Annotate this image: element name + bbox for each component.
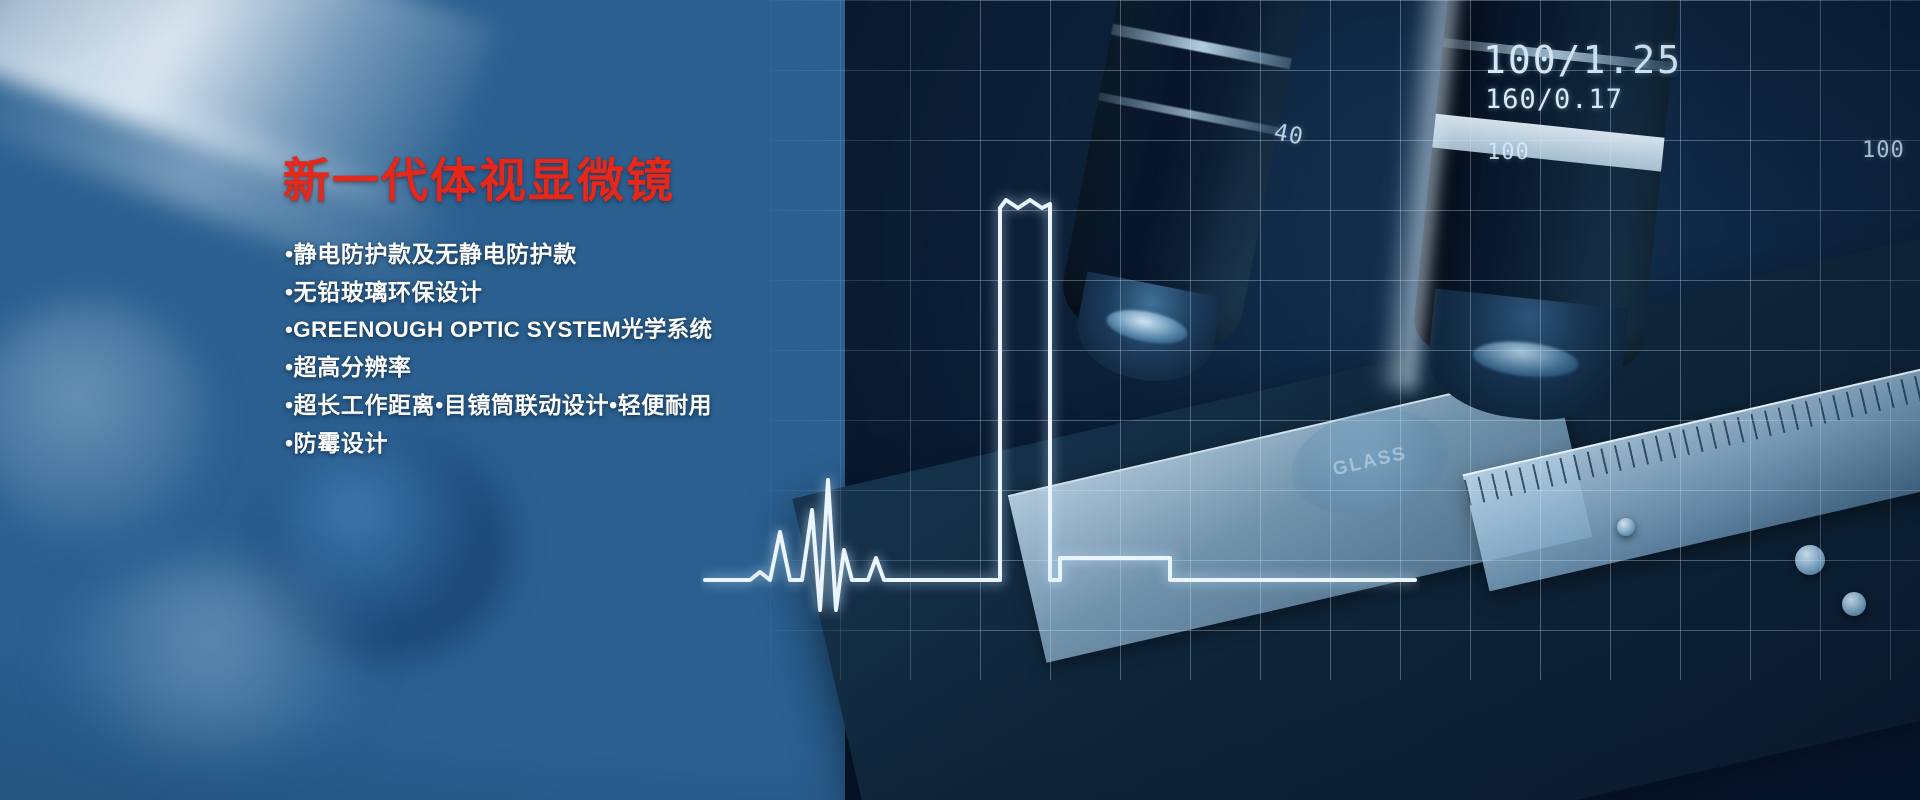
list-item: •超高分辨率 [285,356,983,379]
banner-hero: GLASS 40 100/1.25 160/0.17 100 100 [0,0,1920,800]
list-item: •防霉设计 [285,432,983,455]
page-title: 新一代体视显微镜 [283,155,983,207]
list-item: •GREENOUGH OPTIC SYSTEM光学系统 [285,319,983,342]
list-item: •超长工作距离•目镜筒联动设计•轻便耐用 [285,394,983,417]
list-item: •无铅玻璃环保设计 [285,281,983,304]
feature-list: •静电防护款及无静电防护款 •无铅玻璃环保设计 •GREENOUGH OPTIC… [285,243,983,456]
banner-copy: 新一代体视显微镜 •静电防护款及无静电防护款 •无铅玻璃环保设计 •GREENO… [283,155,983,470]
list-item: •静电防护款及无静电防护款 [285,243,983,266]
